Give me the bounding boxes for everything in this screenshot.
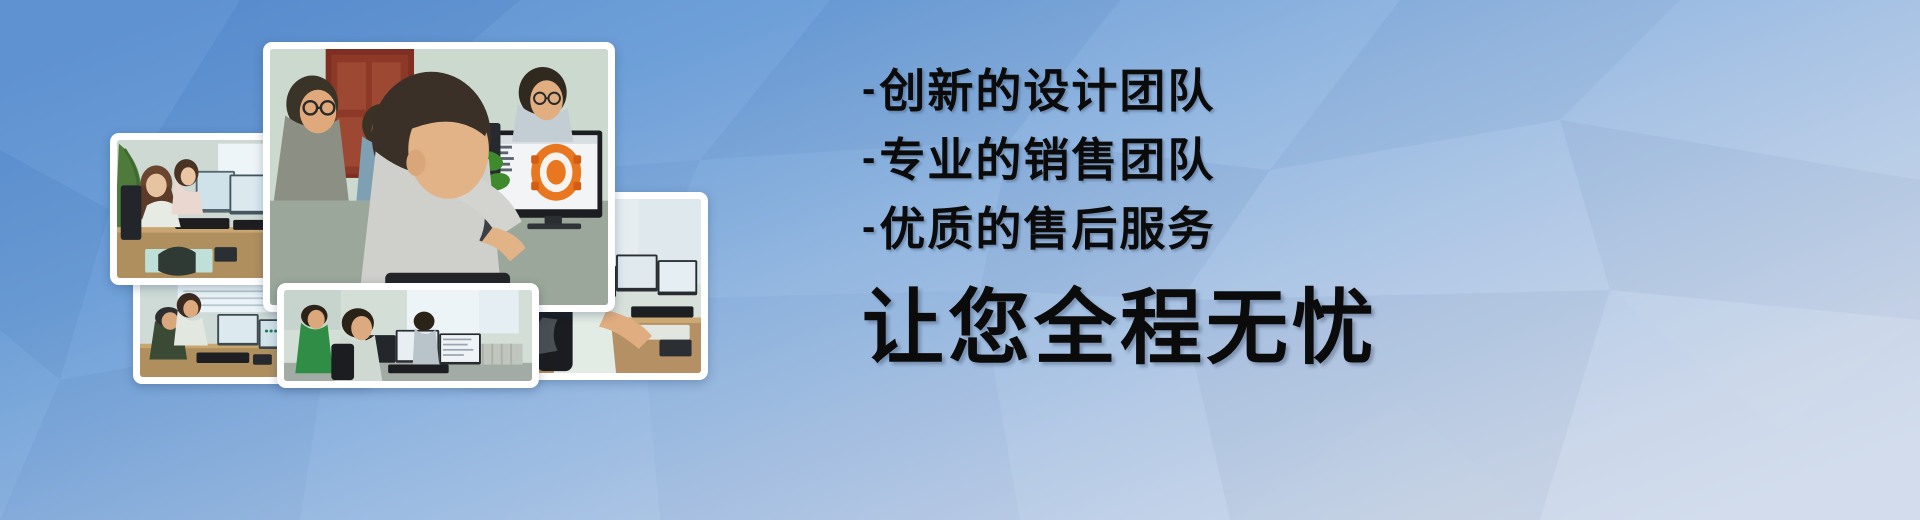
bullet-item-2: - 专业的销售团队 (862, 127, 1502, 193)
photo-team-support-image (284, 290, 532, 381)
photo-cad-designer-image (270, 49, 608, 305)
bullet-label-3: 优质的售后服务 (879, 206, 1215, 252)
svg-text:●●●: ●●● (264, 327, 278, 336)
marketing-copy: - 创新的设计团队 - 专业的销售团队 - 优质的售后服务 让您全程无忧 (862, 58, 1502, 478)
bullet-label-2: 专业的销售团队 (879, 137, 1215, 183)
bullet-dash-icon: - (862, 207, 875, 247)
photo-cad-designer (263, 42, 615, 312)
headline: 让您全程无忧 (862, 288, 1502, 370)
bullet-dash-icon: - (862, 138, 875, 178)
photo-team-support (277, 283, 539, 388)
bullet-item-1: - 创新的设计团队 (862, 58, 1502, 124)
bullet-label-1: 创新的设计团队 (879, 68, 1215, 114)
bullet-item-3: - 优质的售后服务 (862, 196, 1502, 262)
bullet-dash-icon: - (862, 69, 875, 109)
promo-banner: ●●● (0, 0, 1920, 520)
photo-collage: ●●● (0, 0, 780, 520)
